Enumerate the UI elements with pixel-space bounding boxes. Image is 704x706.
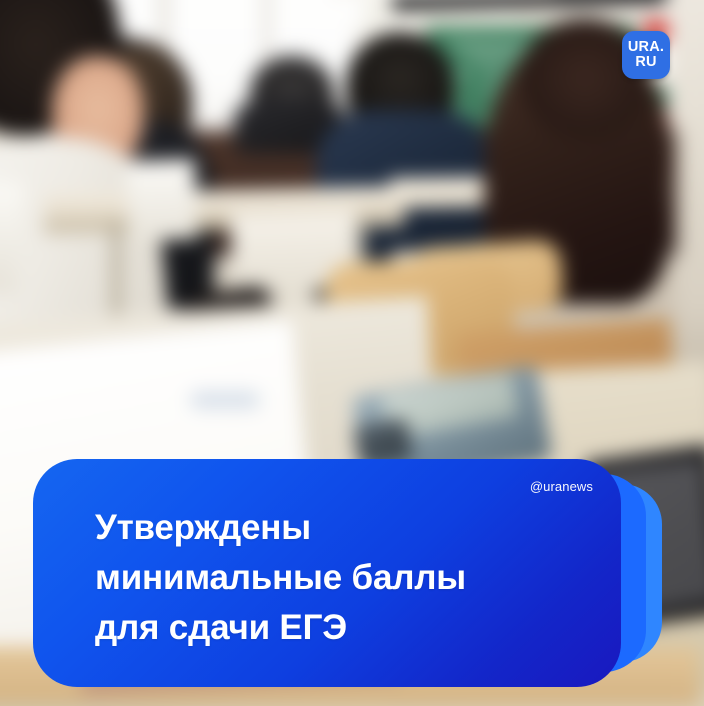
headline-line-3: для сдачи ЕГЭ xyxy=(95,603,577,653)
headline-line-2: минимальные баллы xyxy=(95,553,577,603)
ura-ru-logo: URA. RU xyxy=(622,31,670,79)
logo-line-2: RU xyxy=(622,55,670,70)
logo-line-1: URA. xyxy=(622,40,670,55)
headline-text: Утверждены минимальные баллы для сдачи Е… xyxy=(95,503,577,653)
news-card-image: URA. RU @uranews Утверждены минимальные … xyxy=(0,0,704,706)
social-handle: @uranews xyxy=(530,479,593,494)
headline-card: @uranews Утверждены минимальные баллы дл… xyxy=(33,459,621,687)
headline-line-1: Утверждены xyxy=(95,503,577,553)
